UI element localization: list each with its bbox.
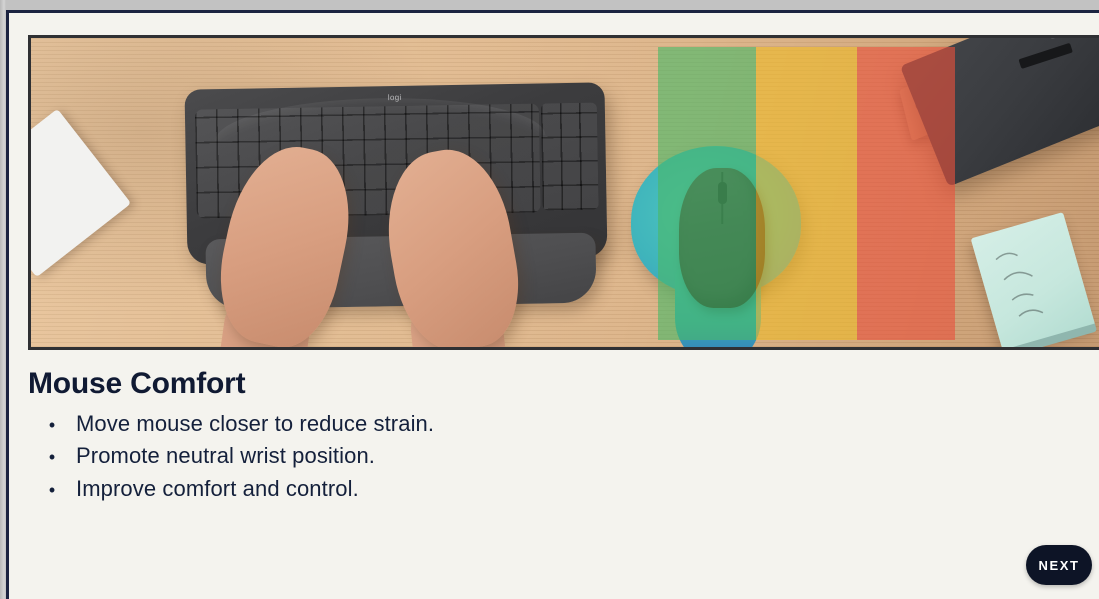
laptop-trackpad xyxy=(1043,38,1083,40)
laptop-key-strip xyxy=(1018,43,1072,69)
bullet-icon: • xyxy=(28,481,76,499)
bullet-icon: • xyxy=(28,416,76,434)
computer-mouse xyxy=(679,168,765,308)
page-title: Mouse Comfort xyxy=(28,368,1079,400)
slide-canvas: logi xyxy=(9,13,1099,599)
slide-viewer: logi xyxy=(0,0,1099,599)
next-button-label: NEXT xyxy=(1038,558,1079,573)
bullet-text: Move mouse closer to reduce strain. xyxy=(76,411,434,438)
desk-photo: logi xyxy=(31,38,1099,347)
sticky-note-scribble-icon xyxy=(984,226,1084,341)
list-item: • Move mouse closer to reduce strain. xyxy=(28,411,1079,438)
mouse-scroll-wheel xyxy=(718,182,727,204)
bullet-text: Promote neutral wrist position. xyxy=(76,443,375,470)
next-button[interactable]: NEXT xyxy=(1026,545,1092,585)
bullet-list: • Move mouse closer to reduce strain. • … xyxy=(28,411,1079,503)
mouse-pad-assembly xyxy=(631,146,801,347)
bullet-icon: • xyxy=(28,448,76,466)
keyboard-numpad xyxy=(541,102,599,210)
list-item: • Improve comfort and control. xyxy=(28,476,1079,503)
bullet-text: Improve comfort and control. xyxy=(76,476,359,503)
slide-text-content: Mouse Comfort • Move mouse closer to red… xyxy=(28,368,1079,509)
list-item: • Promote neutral wrist position. xyxy=(28,443,1079,470)
slide-image-frame: logi xyxy=(28,35,1099,350)
